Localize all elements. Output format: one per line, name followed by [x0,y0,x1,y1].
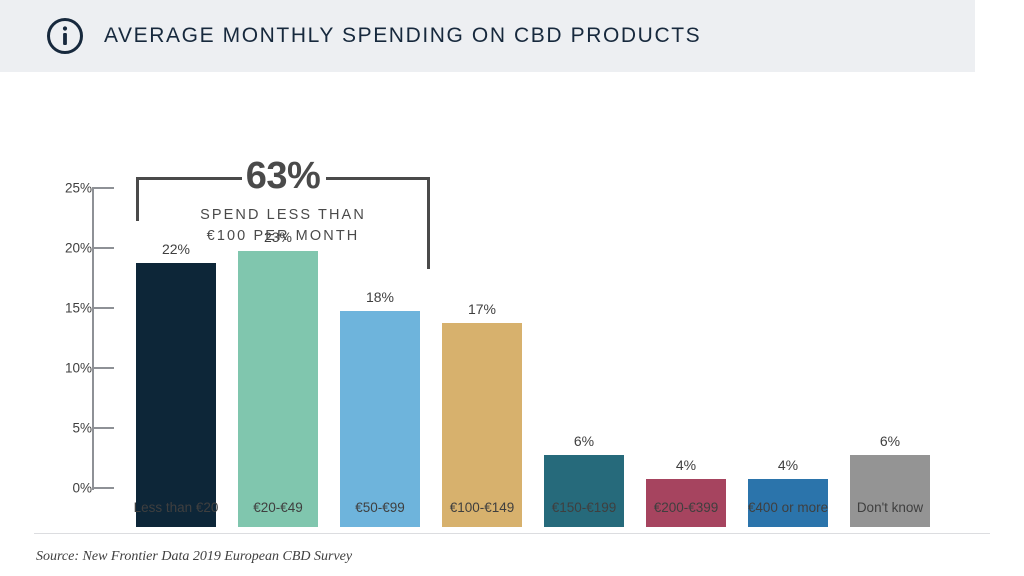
y-axis-tick [92,187,114,189]
source-note: Source: New Frontier Data 2019 European … [36,549,352,565]
y-axis-tick [92,367,114,369]
bar-column[interactable]: 17% [442,111,522,527]
y-axis-tick [92,487,114,489]
footer-divider [34,533,990,534]
bar-column[interactable]: 6% [544,111,624,527]
bar-value-label: 6% [850,433,930,449]
bar-value-label: 4% [646,457,726,473]
info-circle-icon [46,17,84,55]
bar-value-label: 4% [748,457,828,473]
y-axis-tick [92,247,114,249]
x-axis-category-label: Don't know [825,500,955,515]
page-title: AVERAGE MONTHLY SPENDING ON CBD PRODUCTS [104,24,701,48]
bar-column[interactable]: 22% [136,111,216,527]
y-axis-tick-label: 25% [48,181,92,196]
bar[interactable] [850,455,930,527]
bar[interactable] [340,311,420,527]
y-axis-line [92,188,94,490]
bar-value-label: 18% [340,289,420,305]
bar[interactable] [442,323,522,527]
bar-value-label: 6% [544,433,624,449]
bar-value-label: 22% [136,241,216,257]
y-axis-tick-label: 0% [48,481,92,496]
bar[interactable] [136,263,216,527]
bar[interactable] [238,251,318,527]
bracket-right-arm [427,177,430,269]
y-axis-tick-label: 15% [48,301,92,316]
header-band: AVERAGE MONTHLY SPENDING ON CBD PRODUCTS [0,0,975,72]
y-axis-tick [92,427,114,429]
bar-column[interactable]: 18% [340,111,420,527]
bar-value-label: 17% [442,301,522,317]
y-axis-tick-label: 5% [48,421,92,436]
bar-value-label: 23% [238,229,318,245]
y-axis-tick-label: 20% [48,241,92,256]
bar-column[interactable]: 6% [850,111,930,527]
bar-column[interactable]: 4% [748,111,828,527]
bar[interactable] [544,455,624,527]
y-axis-tick-label: 10% [48,361,92,376]
y-axis-tick [92,307,114,309]
bar-column[interactable]: 4% [646,111,726,527]
chart-plot-area: 25%20%15%10%5%0% 22%23%18%17%6%4%4%6% Le… [0,72,1024,527]
bar-column[interactable]: 23% [238,111,318,527]
